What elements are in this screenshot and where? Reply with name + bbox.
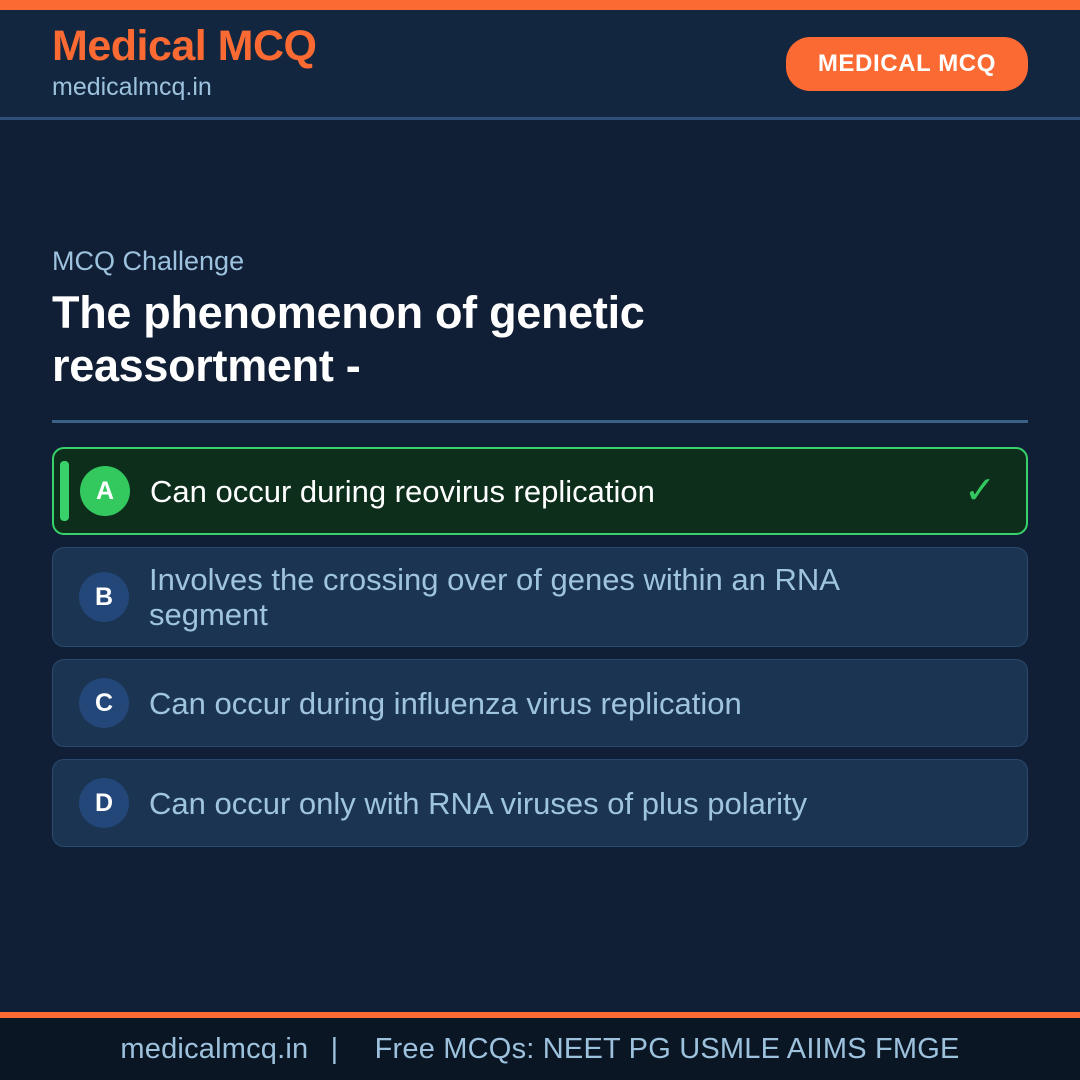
option-a-text: Can occur during reovirus replication: [150, 474, 960, 509]
header-badge: MEDICAL MCQ: [786, 37, 1028, 91]
footer-exams: Free MCQs: NEET PG USMLE AIIMS FMGE: [361, 1033, 960, 1065]
brand-block: Medical MCQ medicalmcq.in: [52, 24, 317, 104]
footer-separator: |: [317, 1033, 353, 1065]
option-c[interactable]: C Can occur during influenza virus repli…: [52, 659, 1028, 747]
question-divider: [52, 420, 1028, 423]
top-accent-bar: [0, 0, 1080, 10]
option-a-badge: A: [80, 466, 130, 516]
option-a[interactable]: A Can occur during reovirus replication …: [52, 447, 1028, 535]
option-b-badge: B: [79, 572, 129, 622]
option-b[interactable]: B Involves the crossing over of genes wi…: [52, 547, 1028, 647]
eyebrow-label: MCQ Challenge: [52, 245, 1028, 277]
option-d-text: Can occur only with RNA viruses of plus …: [149, 786, 961, 821]
footer: medicalmcq.in | Free MCQs: NEET PG USMLE…: [0, 1012, 1080, 1080]
option-c-badge: C: [79, 678, 129, 728]
brand-title: Medical MCQ: [52, 24, 317, 69]
option-b-text: Involves the crossing over of genes with…: [149, 562, 961, 632]
option-d-badge: D: [79, 778, 129, 828]
check-icon: ✓: [960, 472, 1000, 510]
footer-text: medicalmcq.in | Free MCQs: NEET PG USMLE…: [120, 1033, 959, 1066]
question-text: The phenomenon of genetic reassortment -: [52, 287, 912, 392]
option-d[interactable]: D Can occur only with RNA viruses of plu…: [52, 759, 1028, 847]
header: Medical MCQ medicalmcq.in MEDICAL MCQ: [0, 10, 1080, 120]
option-c-text: Can occur during influenza virus replica…: [149, 686, 961, 721]
main-content: MCQ Challenge The phenomenon of genetic …: [0, 120, 1080, 1012]
footer-site: medicalmcq.in: [120, 1033, 308, 1065]
options-list: A Can occur during reovirus replication …: [52, 447, 1028, 847]
mcq-card: Medical MCQ medicalmcq.in MEDICAL MCQ MC…: [0, 0, 1080, 1080]
brand-subtitle: medicalmcq.in: [52, 71, 317, 104]
question-block: MCQ Challenge The phenomenon of genetic …: [52, 245, 1028, 848]
